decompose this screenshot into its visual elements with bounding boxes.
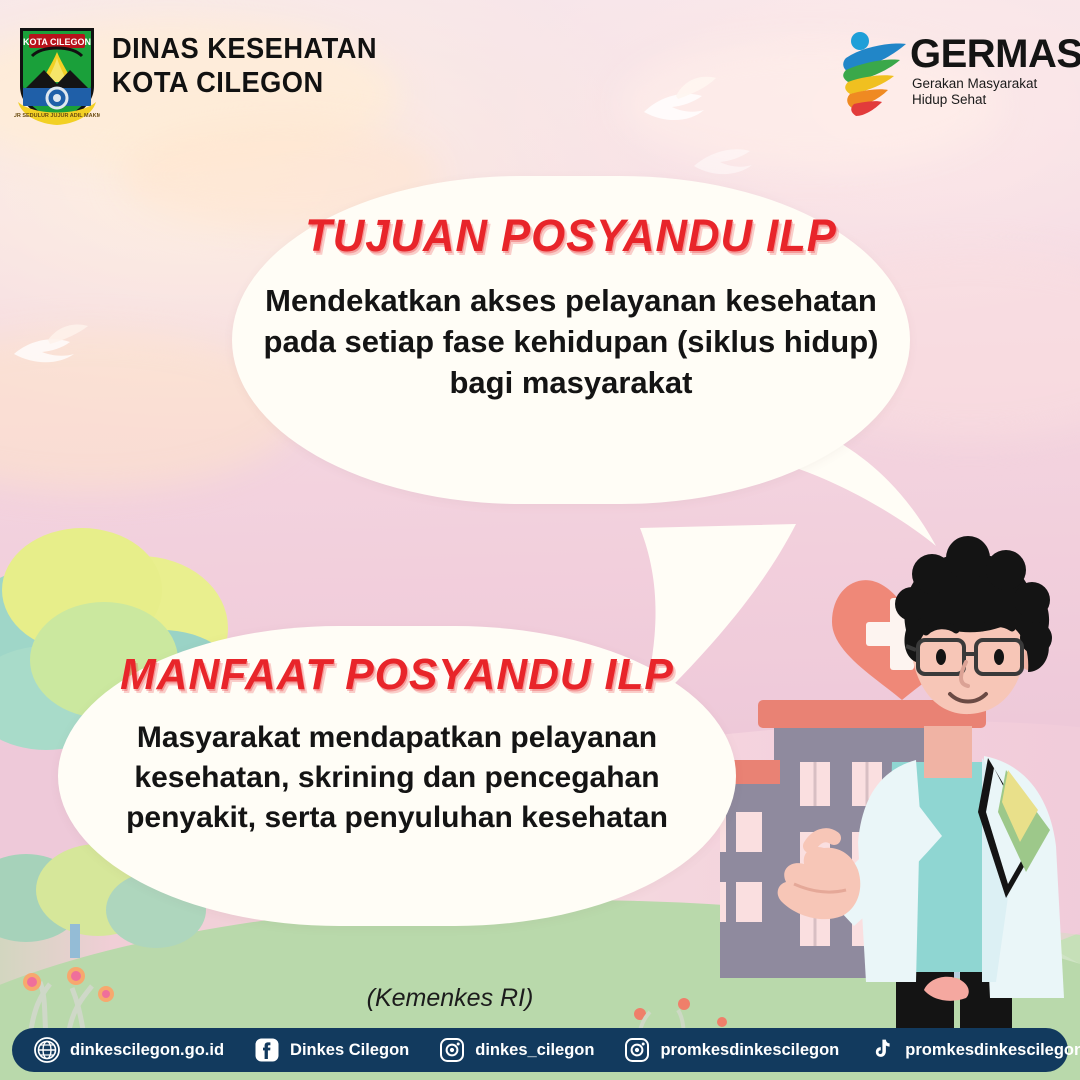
- instagram-icon: [624, 1037, 650, 1063]
- bubble-title-tujuan: TUJUAN POSYANDU ILP: [242, 210, 900, 262]
- speech-bubble-tujuan: TUJUAN POSYANDU ILP Mendekatkan akses pe…: [232, 176, 910, 504]
- germas-tagline-line-1: Gerakan Masyarakat: [912, 76, 1037, 92]
- doctor-illustration: [720, 512, 1080, 1032]
- footer-item-facebook[interactable]: Dinkes Cilegon: [254, 1037, 409, 1063]
- crest-banner-text: KOTA CILEGON: [23, 37, 91, 47]
- speech-bubble-manfaat: MANFAAT POSYANDU ILP Masyarakat mendapat…: [58, 626, 736, 926]
- germas-figure-icon: [838, 28, 908, 116]
- footer-label-website: dinkescilegon.go.id: [70, 1041, 224, 1060]
- social-footer-bar: dinkescilegon.go.id Dinkes Cilegon d: [12, 1028, 1068, 1072]
- footer-item-tiktok[interactable]: promkesdinkescilegon: [869, 1037, 1080, 1063]
- org-line-2: KOTA CILEGON: [112, 66, 377, 100]
- dove-icon: [8, 318, 98, 374]
- source-credit-text: (Kemenkes RI): [367, 984, 534, 1012]
- instagram-icon: [439, 1037, 465, 1063]
- footer-label-tiktok: promkesdinkescilegon: [905, 1041, 1080, 1060]
- germas-wordmark: GERMAS: [910, 32, 1080, 77]
- organization-title: DINAS KESEHATAN KOTA CILEGON: [112, 32, 377, 100]
- poster-header: KOTA CILEGON AKUR SEDULUR JUJUR ADIL MAK…: [0, 0, 1080, 140]
- tiktok-icon: [869, 1037, 895, 1063]
- facebook-icon: [254, 1037, 280, 1063]
- bubble-title-manfaat: MANFAAT POSYANDU ILP: [68, 650, 726, 700]
- bubble-body-manfaat: Masyarakat mendapatkan pelayanan kesehat…: [58, 718, 736, 838]
- org-line-1: DINAS KESEHATAN: [112, 32, 377, 66]
- globe-icon: [34, 1037, 60, 1063]
- germas-tagline: Gerakan Masyarakat Hidup Sehat: [912, 76, 1037, 108]
- source-credit: (Kemenkes RI): [0, 984, 1080, 1013]
- footer-item-instagram-dinkes[interactable]: dinkes_cilegon: [439, 1037, 594, 1063]
- germas-tagline-line-2: Hidup Sehat: [912, 92, 1037, 108]
- footer-label-instagram-dinkes: dinkes_cilegon: [475, 1041, 594, 1060]
- germas-logo: GERMAS Gerakan Masyarakat Hidup Sehat: [838, 26, 1048, 118]
- footer-label-instagram-promkes: promkesdinkescilegon: [660, 1041, 839, 1060]
- footer-item-website[interactable]: dinkescilegon.go.id: [34, 1037, 224, 1063]
- footer-label-facebook: Dinkes Cilegon: [290, 1041, 409, 1060]
- infographic-poster: KOTA CILEGON AKUR SEDULUR JUJUR ADIL MAK…: [0, 0, 1080, 1080]
- footer-item-instagram-promkes[interactable]: promkesdinkescilegon: [624, 1037, 839, 1063]
- bubble-body-tujuan: Mendekatkan akses pelayanan kesehatan pa…: [232, 280, 910, 403]
- cilegon-city-crest: KOTA CILEGON AKUR SEDULUR JUJUR ADIL MAK…: [14, 22, 100, 126]
- crest-motto-text: AKUR SEDULUR JUJUR ADIL MAKMUR: [14, 113, 100, 119]
